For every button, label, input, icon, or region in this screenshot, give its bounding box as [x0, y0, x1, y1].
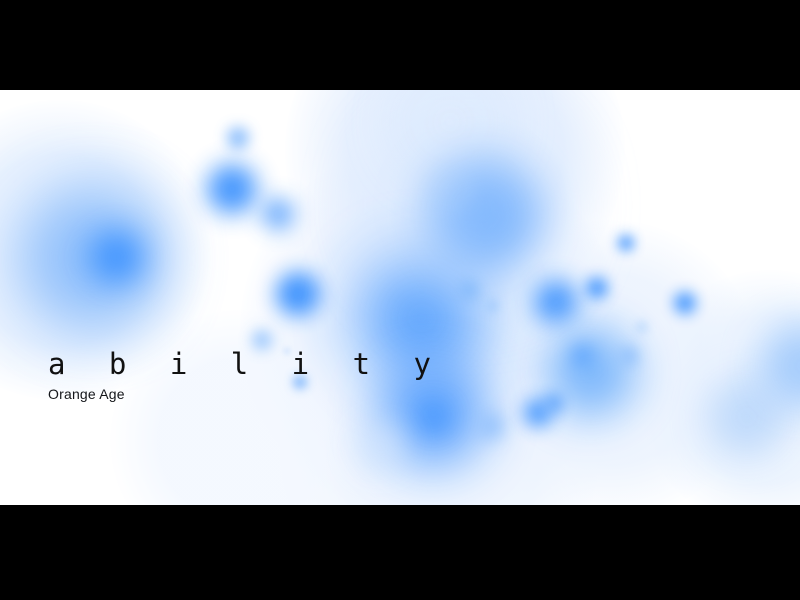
subtitle: Orange Age	[48, 386, 444, 403]
haze-bottom-right	[640, 270, 800, 505]
faint-ring-top-center	[398, 90, 502, 174]
artwork-canvas	[0, 90, 800, 505]
soft-orb-bottom-left	[359, 424, 403, 468]
dot-upper-left-small	[227, 127, 249, 149]
big-orb-upper-center	[432, 162, 536, 266]
orb-mid-left	[276, 272, 320, 316]
bright-core-left	[91, 231, 143, 283]
haze-top-center	[285, 90, 625, 320]
dot-lower-center	[478, 413, 504, 439]
dot-right-tiny	[637, 322, 647, 332]
twin-dot-lower-a	[524, 399, 552, 427]
dot-center-right-a	[460, 281, 478, 299]
core-lower-center	[420, 404, 448, 432]
big-orb-right	[546, 327, 636, 417]
pale-orb-bottom-right	[707, 377, 787, 457]
letterbox-bar-top	[0, 0, 800, 90]
twin-dot-lower-b	[545, 394, 563, 412]
halo-upper-center	[382, 117, 558, 293]
dot-right-upper-b	[618, 235, 634, 251]
haze-center	[240, 140, 620, 505]
edge-orb-far-right	[760, 324, 800, 408]
dot-center-right-b	[486, 300, 498, 312]
title-block: a b i l i t y Orange Age	[48, 348, 444, 403]
haze-right	[460, 220, 760, 505]
orb-upper-left	[207, 164, 257, 214]
video-frame: a b i l i t y Orange Age	[0, 0, 800, 600]
page-title: a b i l i t y	[48, 348, 444, 380]
soft-halo-top-left	[18, 184, 166, 332]
dot-far-right	[674, 292, 696, 314]
dot-right-upper	[586, 277, 608, 299]
dot-right-edge	[620, 347, 638, 365]
core-right-orb	[572, 345, 592, 365]
orb-upper-left-b	[262, 198, 294, 230]
letterbox-bar-bottom	[0, 505, 800, 600]
haze-left-low	[110, 310, 370, 505]
orb-right-mid	[534, 280, 578, 324]
ring-orb-upper-center	[431, 171, 469, 209]
